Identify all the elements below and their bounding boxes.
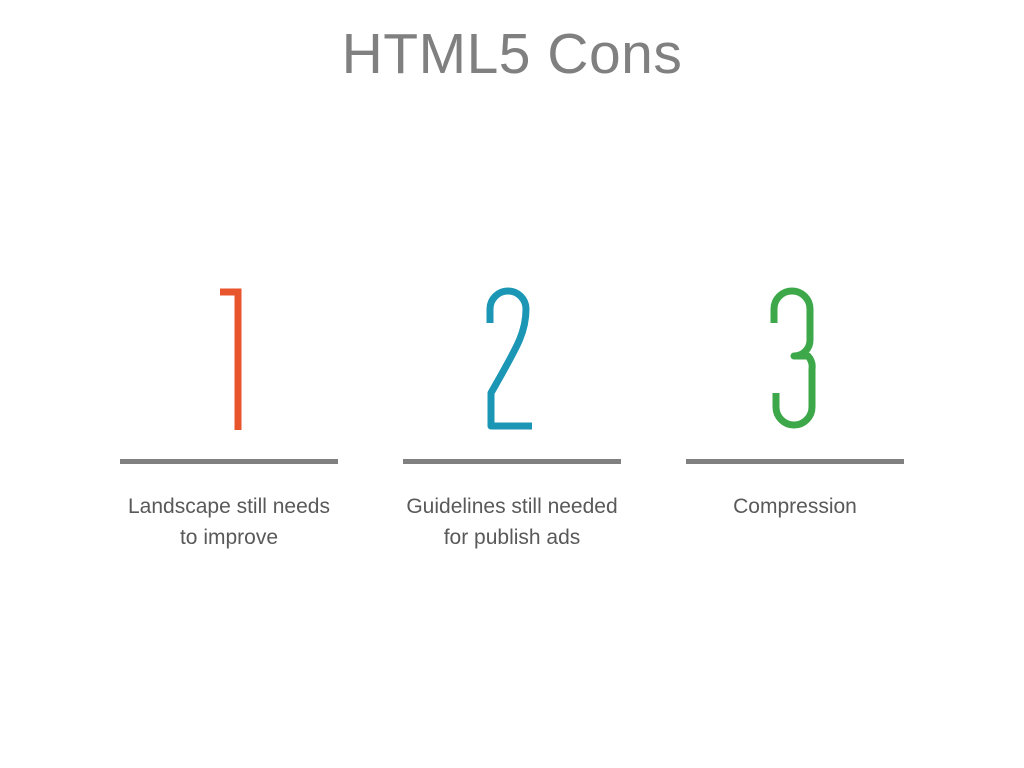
numeral-one-icon [194, 285, 264, 435]
numeral-1-wrap [194, 285, 264, 445]
numeral-3-wrap [760, 285, 830, 445]
page-title: HTML5 Cons [0, 22, 1024, 88]
numeral-two-icon [477, 285, 547, 435]
numeral-2-wrap [477, 285, 547, 445]
cons-item-1: Landscape still needs to improve [110, 285, 348, 553]
cons-columns: Landscape still needs to improve Guideli… [110, 285, 914, 553]
cons-item-3: Compression [676, 285, 914, 523]
divider-bar-2 [403, 459, 621, 464]
divider-bar-3 [686, 459, 904, 464]
divider-bar-1 [120, 459, 338, 464]
cons-item-2: Guidelines still needed for publish ads [393, 285, 631, 553]
numeral-three-icon [760, 285, 830, 435]
cons-caption-2: Guidelines still needed for publish ads [404, 492, 620, 553]
slide-canvas: HTML5 Cons Landscape still needs to impr… [0, 0, 1024, 768]
cons-caption-3: Compression [683, 492, 908, 523]
cons-caption-1: Landscape still needs to improve [117, 492, 342, 553]
